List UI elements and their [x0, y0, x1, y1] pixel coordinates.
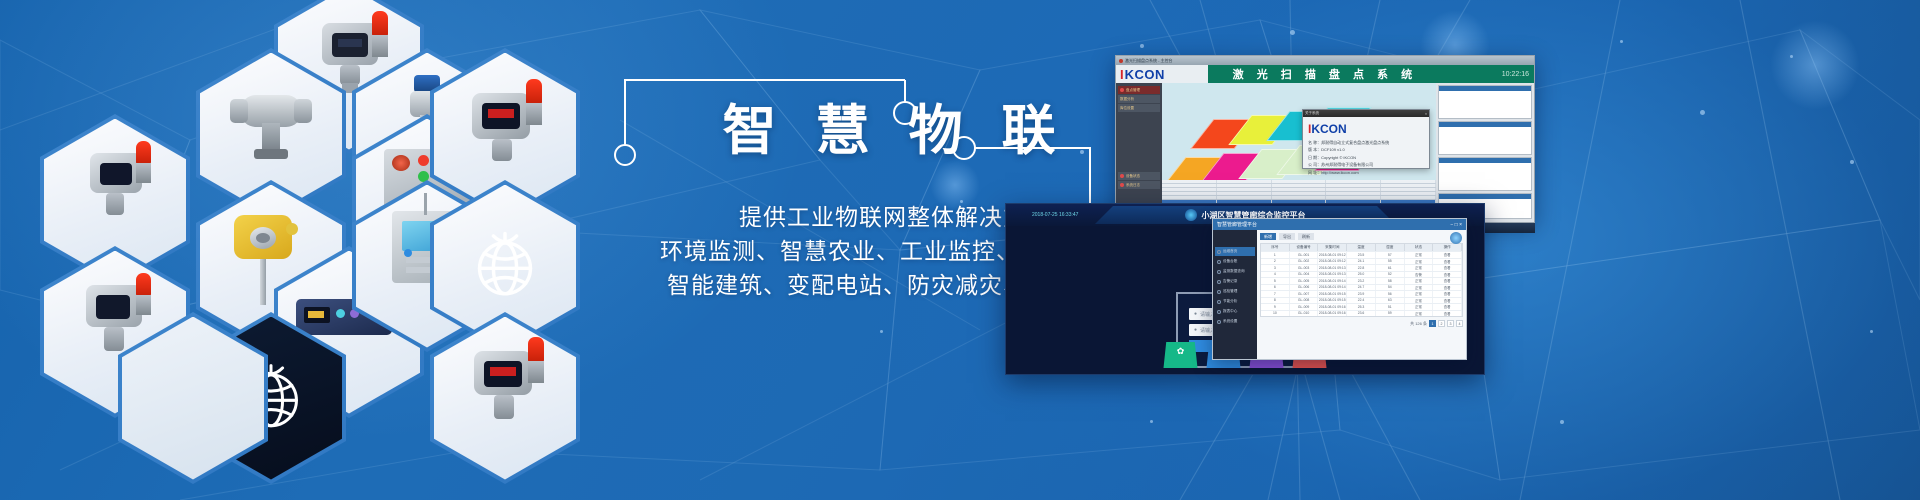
side-nav-item[interactable]: 系统日志: [1118, 181, 1160, 189]
list-window-title: 智慧管廊管理平台: [1217, 221, 1257, 228]
table-row: 9GL-0092018-08-01 09:1625.351正常查看: [1261, 303, 1462, 310]
side-nav[interactable]: 盘点管理 数据分析 库位设置 设备状态 系统日志: [1116, 83, 1162, 223]
close-icon[interactable]: ×: [1425, 112, 1427, 116]
page-button[interactable]: 4: [1456, 320, 1463, 327]
sidebar-item-label: 系统设置: [1223, 319, 1237, 324]
sidebar-item-label: 告警记录: [1223, 279, 1237, 284]
window-controls[interactable]: − □ ×: [1450, 222, 1462, 228]
screen-laser-scan-system[interactable]: 激光扫描盘点系统 - 主控台 I KCON 激 光 扫 描 盘 点 系 统 10…: [1115, 55, 1535, 223]
gas-detector-alarm-right-image: [434, 317, 576, 480]
logo-text-kcon: KCON: [1311, 122, 1346, 136]
logo-letter-i: I: [1120, 67, 1124, 82]
sidebar-item-reports[interactable]: 报表中心: [1215, 307, 1255, 316]
hexagon-product-cluster: [40, 0, 660, 500]
clock-label: 10:22:16: [1502, 71, 1534, 78]
sidebar-item-data[interactable]: 监测数据查询: [1215, 267, 1255, 276]
side-card: [1438, 157, 1532, 191]
lock-icon: ●: [1194, 327, 1197, 333]
column-header: 状态: [1405, 244, 1434, 251]
tile-environment[interactable]: ✿: [1164, 342, 1198, 368]
table-row: 2GL-0022018-08-01 09:1224.155正常查看: [1261, 258, 1462, 265]
sidebar-item-energy[interactable]: 节能分析: [1215, 297, 1255, 306]
column-header: 湿度: [1376, 244, 1405, 251]
sidebar-item-inspection[interactable]: 巡检管理: [1215, 287, 1255, 296]
side-nav-label: 库位设置: [1120, 106, 1134, 111]
platform-icon: [1185, 209, 1197, 221]
column-header: 采集时间: [1318, 244, 1347, 251]
sidebar-item-label: 监测数据查询: [1223, 269, 1245, 274]
side-card: [1438, 85, 1532, 119]
table-row: 10GL-0102018-08-01 09:1623.659正常查看: [1261, 310, 1462, 317]
screen-management-list[interactable]: 智慧管廊管理平台 − □ × 运维首页 设备台账 监测数据查询 告警记录 巡检管…: [1212, 218, 1467, 360]
list-window-body: 运维首页 设备台账 监测数据查询 告警记录 巡检管理 节能分析 报表中心 系统设…: [1213, 230, 1466, 360]
logo-text-kcon: KCON: [1125, 67, 1165, 82]
data-table[interactable]: 序号 设备编号 采集时间 温度 湿度 状态 操作 1GL-0012018-08-…: [1260, 243, 1463, 317]
side-nav-label: 数据分析: [1120, 97, 1134, 102]
table-row: 3GL-0032018-08-01 09:1322.861正常查看: [1261, 264, 1462, 271]
side-nav-label: 系统日志: [1126, 183, 1140, 188]
dialog-row: 网 址：http://www.ikcon.com: [1308, 170, 1424, 176]
dialog-body: IKCON 名 称：邦耐得自动立式复合盘点激光盘点系统 版 本：DCF109 v…: [1303, 117, 1429, 179]
column-header: 温度: [1347, 244, 1376, 251]
list-window-header: 智慧管廊管理平台 − □ ×: [1213, 219, 1466, 230]
dialog-row: 版 本：DCF109 v1.0: [1308, 147, 1424, 153]
export-button[interactable]: 导出: [1279, 233, 1295, 240]
side-nav-item[interactable]: 库位设置: [1118, 104, 1160, 112]
side-nav-item[interactable]: 数据分析: [1118, 95, 1160, 103]
sidebar-item-label: 节能分析: [1223, 299, 1237, 304]
page-title: 智 慧 物 联: [660, 104, 1130, 158]
side-nav-item[interactable]: 盘点管理: [1118, 86, 1160, 94]
dialog-logo: IKCON: [1308, 120, 1424, 138]
right-card-panel[interactable]: [1436, 83, 1534, 223]
list-toolbar[interactable]: 新增 导出 刷新: [1260, 233, 1463, 240]
column-header: 设备编号: [1290, 244, 1319, 251]
dialog-titlebar: 关于系统 ×: [1303, 110, 1429, 117]
side-nav-item[interactable]: 设备状态: [1118, 172, 1160, 180]
laser-scan-canvas[interactable]: 关于系统 × IKCON 名 称：邦耐得自动立式复合盘点激光盘点系统 版 本：D…: [1162, 83, 1436, 223]
column-header: 操作: [1433, 244, 1462, 251]
ikcon-logo: I KCON: [1116, 65, 1208, 83]
page-button[interactable]: 2: [1438, 320, 1445, 327]
list-side-nav[interactable]: 运维首页 设备台账 监测数据查询 告警记录 巡检管理 节能分析 报表中心 系统设…: [1213, 230, 1257, 360]
smart-iot-banner: 智 慧 物 联 提供工业物联网整体解决方案 环境监测、智慧农业、工业监控、综合管…: [0, 0, 1920, 500]
table-row: 6GL-0062018-08-01 09:1424.754正常查看: [1261, 284, 1462, 291]
hex-gas-detector-alarm-right[interactable]: [430, 312, 580, 484]
avatar[interactable]: [1450, 232, 1462, 244]
about-dialog[interactable]: 关于系统 × IKCON 名 称：邦耐得自动立式复合盘点激光盘点系统 版 本：D…: [1302, 109, 1430, 169]
refresh-button[interactable]: 刷新: [1298, 233, 1314, 240]
leaf-icon: ✿: [1177, 346, 1185, 357]
sidebar-item-label: 设备台账: [1223, 259, 1237, 264]
sidebar-item-home[interactable]: 运维首页: [1215, 247, 1255, 256]
globe-icon: [468, 229, 542, 303]
table-row: 7GL-0072018-08-01 09:1523.956正常查看: [1261, 290, 1462, 297]
sidebar-item-alarms[interactable]: 告警记录: [1215, 277, 1255, 286]
sidebar-item-label: 运维首页: [1223, 249, 1237, 254]
table-header: 序号 设备编号 采集时间 温度 湿度 状态 操作: [1261, 244, 1462, 251]
window-titlebar: 激光扫描盘点系统 - 主控台: [1116, 56, 1534, 65]
user-icon: ●: [1194, 311, 1197, 317]
dialog-title: 关于系统: [1305, 111, 1319, 116]
dialog-row: 名 称：邦耐得自动立式复合盘点激光盘点系统: [1308, 140, 1424, 146]
timestamp-label: 2018-07-25 16:33:47: [1006, 212, 1078, 218]
side-nav-label: 设备状态: [1126, 174, 1140, 179]
sidebar-item-devices[interactable]: 设备台账: [1215, 257, 1255, 266]
app-body: 盘点管理 数据分析 库位设置 设备状态 系统日志: [1116, 83, 1534, 223]
table-row: 8GL-0082018-08-01 09:1522.463正常查看: [1261, 297, 1462, 304]
sidebar-item-settings[interactable]: 系统设置: [1215, 317, 1255, 326]
side-nav-label: 盘点管理: [1126, 88, 1140, 93]
table-row: 1GL-0012018-08-01 09:1223.557正常查看: [1261, 251, 1462, 258]
dialog-row: 公 司：苏州邦耐得电子设备有限公司: [1308, 162, 1424, 168]
column-header: 序号: [1261, 244, 1290, 251]
pagination-info: 共 126 条: [1410, 321, 1427, 327]
table-row: 5GL-0052018-08-01 09:1423.258正常查看: [1261, 277, 1462, 284]
pagination[interactable]: 共 126 条 1 2 3 4: [1260, 320, 1463, 327]
dialog-row: 日 期：Copyright © IKCON: [1308, 155, 1424, 161]
add-button[interactable]: 新增: [1260, 233, 1276, 240]
page-button[interactable]: 1: [1429, 320, 1436, 327]
page-button[interactable]: 3: [1447, 320, 1454, 327]
app-header: I KCON 激 光 扫 描 盘 点 系 统 10:22:16: [1116, 65, 1534, 83]
side-card: [1438, 121, 1532, 155]
list-main: 新增 导出 刷新 序号 设备编号 采集时间 温度 湿度 状态 操作 1GL-00…: [1257, 230, 1466, 360]
window-title-text: 激光扫描盘点系统 - 主控台: [1125, 58, 1173, 64]
sidebar-item-label: 巡检管理: [1223, 289, 1237, 294]
table-row: 4GL-0042018-08-01 09:1325.052告警查看: [1261, 271, 1462, 278]
app-title: 激 光 扫 描 盘 点 系 统: [1208, 66, 1502, 82]
sidebar-item-label: 报表中心: [1223, 309, 1237, 314]
